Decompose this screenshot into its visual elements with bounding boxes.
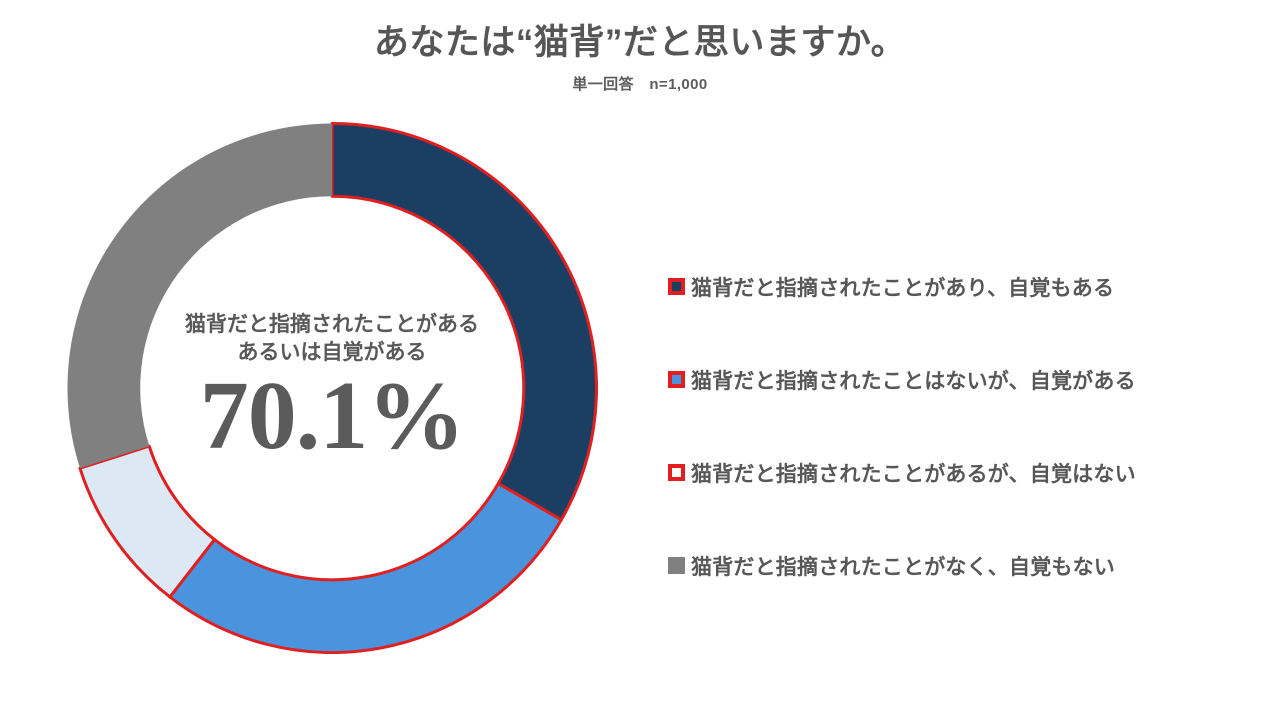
chart-header: あなたは“猫背”だと思いますか。 単一回答 n=1,000 — [0, 0, 1280, 94]
legend-item[interactable]: 猫背だと指摘されたことがなく、自覚もない — [668, 519, 1268, 612]
legend-item[interactable]: 猫背だと指摘されたことがあり、自覚もある — [668, 240, 1268, 333]
legend-swatch-icon — [668, 278, 685, 295]
donut-chart: 猫背だと指摘されたことがある あるいは自覚がある 70.1% — [66, 122, 598, 654]
legend-item-label: 猫背だと指摘されたことがなく、自覚もない — [691, 551, 1115, 581]
legend-item-label: 猫背だと指摘されたことはないが、自覚がある — [691, 365, 1136, 395]
donut-slices — [67, 124, 596, 653]
legend-item[interactable]: 猫背だと指摘されたことはないが、自覚がある — [668, 333, 1268, 426]
legend-swatch-icon — [668, 464, 685, 481]
legend-swatch-icon — [668, 557, 685, 574]
donut-chart-svg — [66, 122, 598, 654]
page-title: あなたは“猫背”だと思いますか。 — [0, 0, 1280, 63]
chart-subtitle: 単一回答 n=1,000 — [0, 63, 1280, 94]
legend-item-label: 猫背だと指摘されたことがあり、自覚もある — [691, 272, 1114, 302]
legend-item[interactable]: 猫背だと指摘されたことがあるが、自覚はない — [668, 426, 1268, 519]
legend-swatch-icon — [668, 371, 685, 388]
donut-slice — [170, 484, 561, 653]
donut-slice — [67, 124, 332, 469]
chart-legend: 猫背だと指摘されたことがあり、自覚もある猫背だと指摘されたことはないが、自覚があ… — [668, 240, 1268, 612]
legend-item-label: 猫背だと指摘されたことがあるが、自覚はない — [691, 458, 1136, 488]
donut-slice — [332, 124, 597, 520]
